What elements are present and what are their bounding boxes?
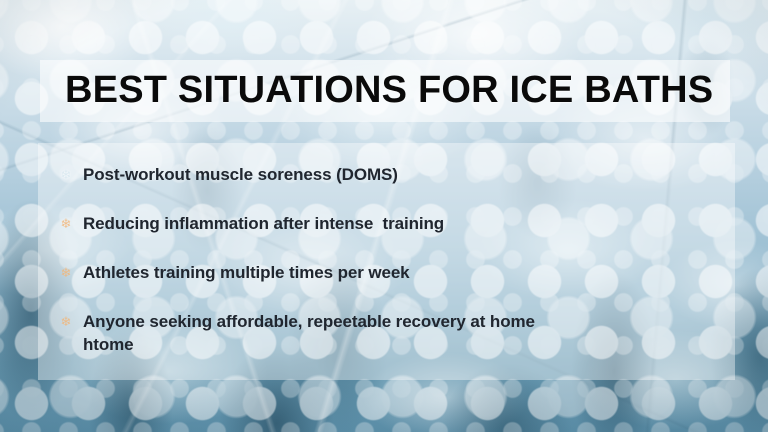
snowflake-icon: ❄ <box>58 313 74 331</box>
list-item: ❄ Reducing inflammation after intense tr… <box>58 212 708 235</box>
bullet-list: ❄ Post-workout muscle soreness (DOMS) ❄ … <box>58 163 708 356</box>
snowflake-icon: ❄ <box>58 166 74 184</box>
list-item-label: Post-workout muscle soreness (DOMS) <box>83 163 398 186</box>
snowflake-icon: ❄ <box>58 264 74 282</box>
list-item-label: Anyone seeking affordable, repeetable re… <box>83 310 535 356</box>
list-item: ❄ Athletes training multiple times per w… <box>58 261 708 284</box>
slide-canvas: BEST SITUATIONS FOR ICE BATHS ❄ Post-wor… <box>0 0 768 432</box>
list-item: ❄ Post-workout muscle soreness (DOMS) <box>58 163 708 186</box>
snowflake-icon: ❄ <box>58 215 74 233</box>
list-item-label: Reducing inflammation after intense trai… <box>83 212 444 235</box>
list-item-label: Athletes training multiple times per wee… <box>83 261 410 284</box>
page-title: BEST SITUATIONS FOR ICE BATHS <box>65 69 725 112</box>
list-item: ❄ Anyone seeking affordable, repeetable … <box>58 310 708 356</box>
